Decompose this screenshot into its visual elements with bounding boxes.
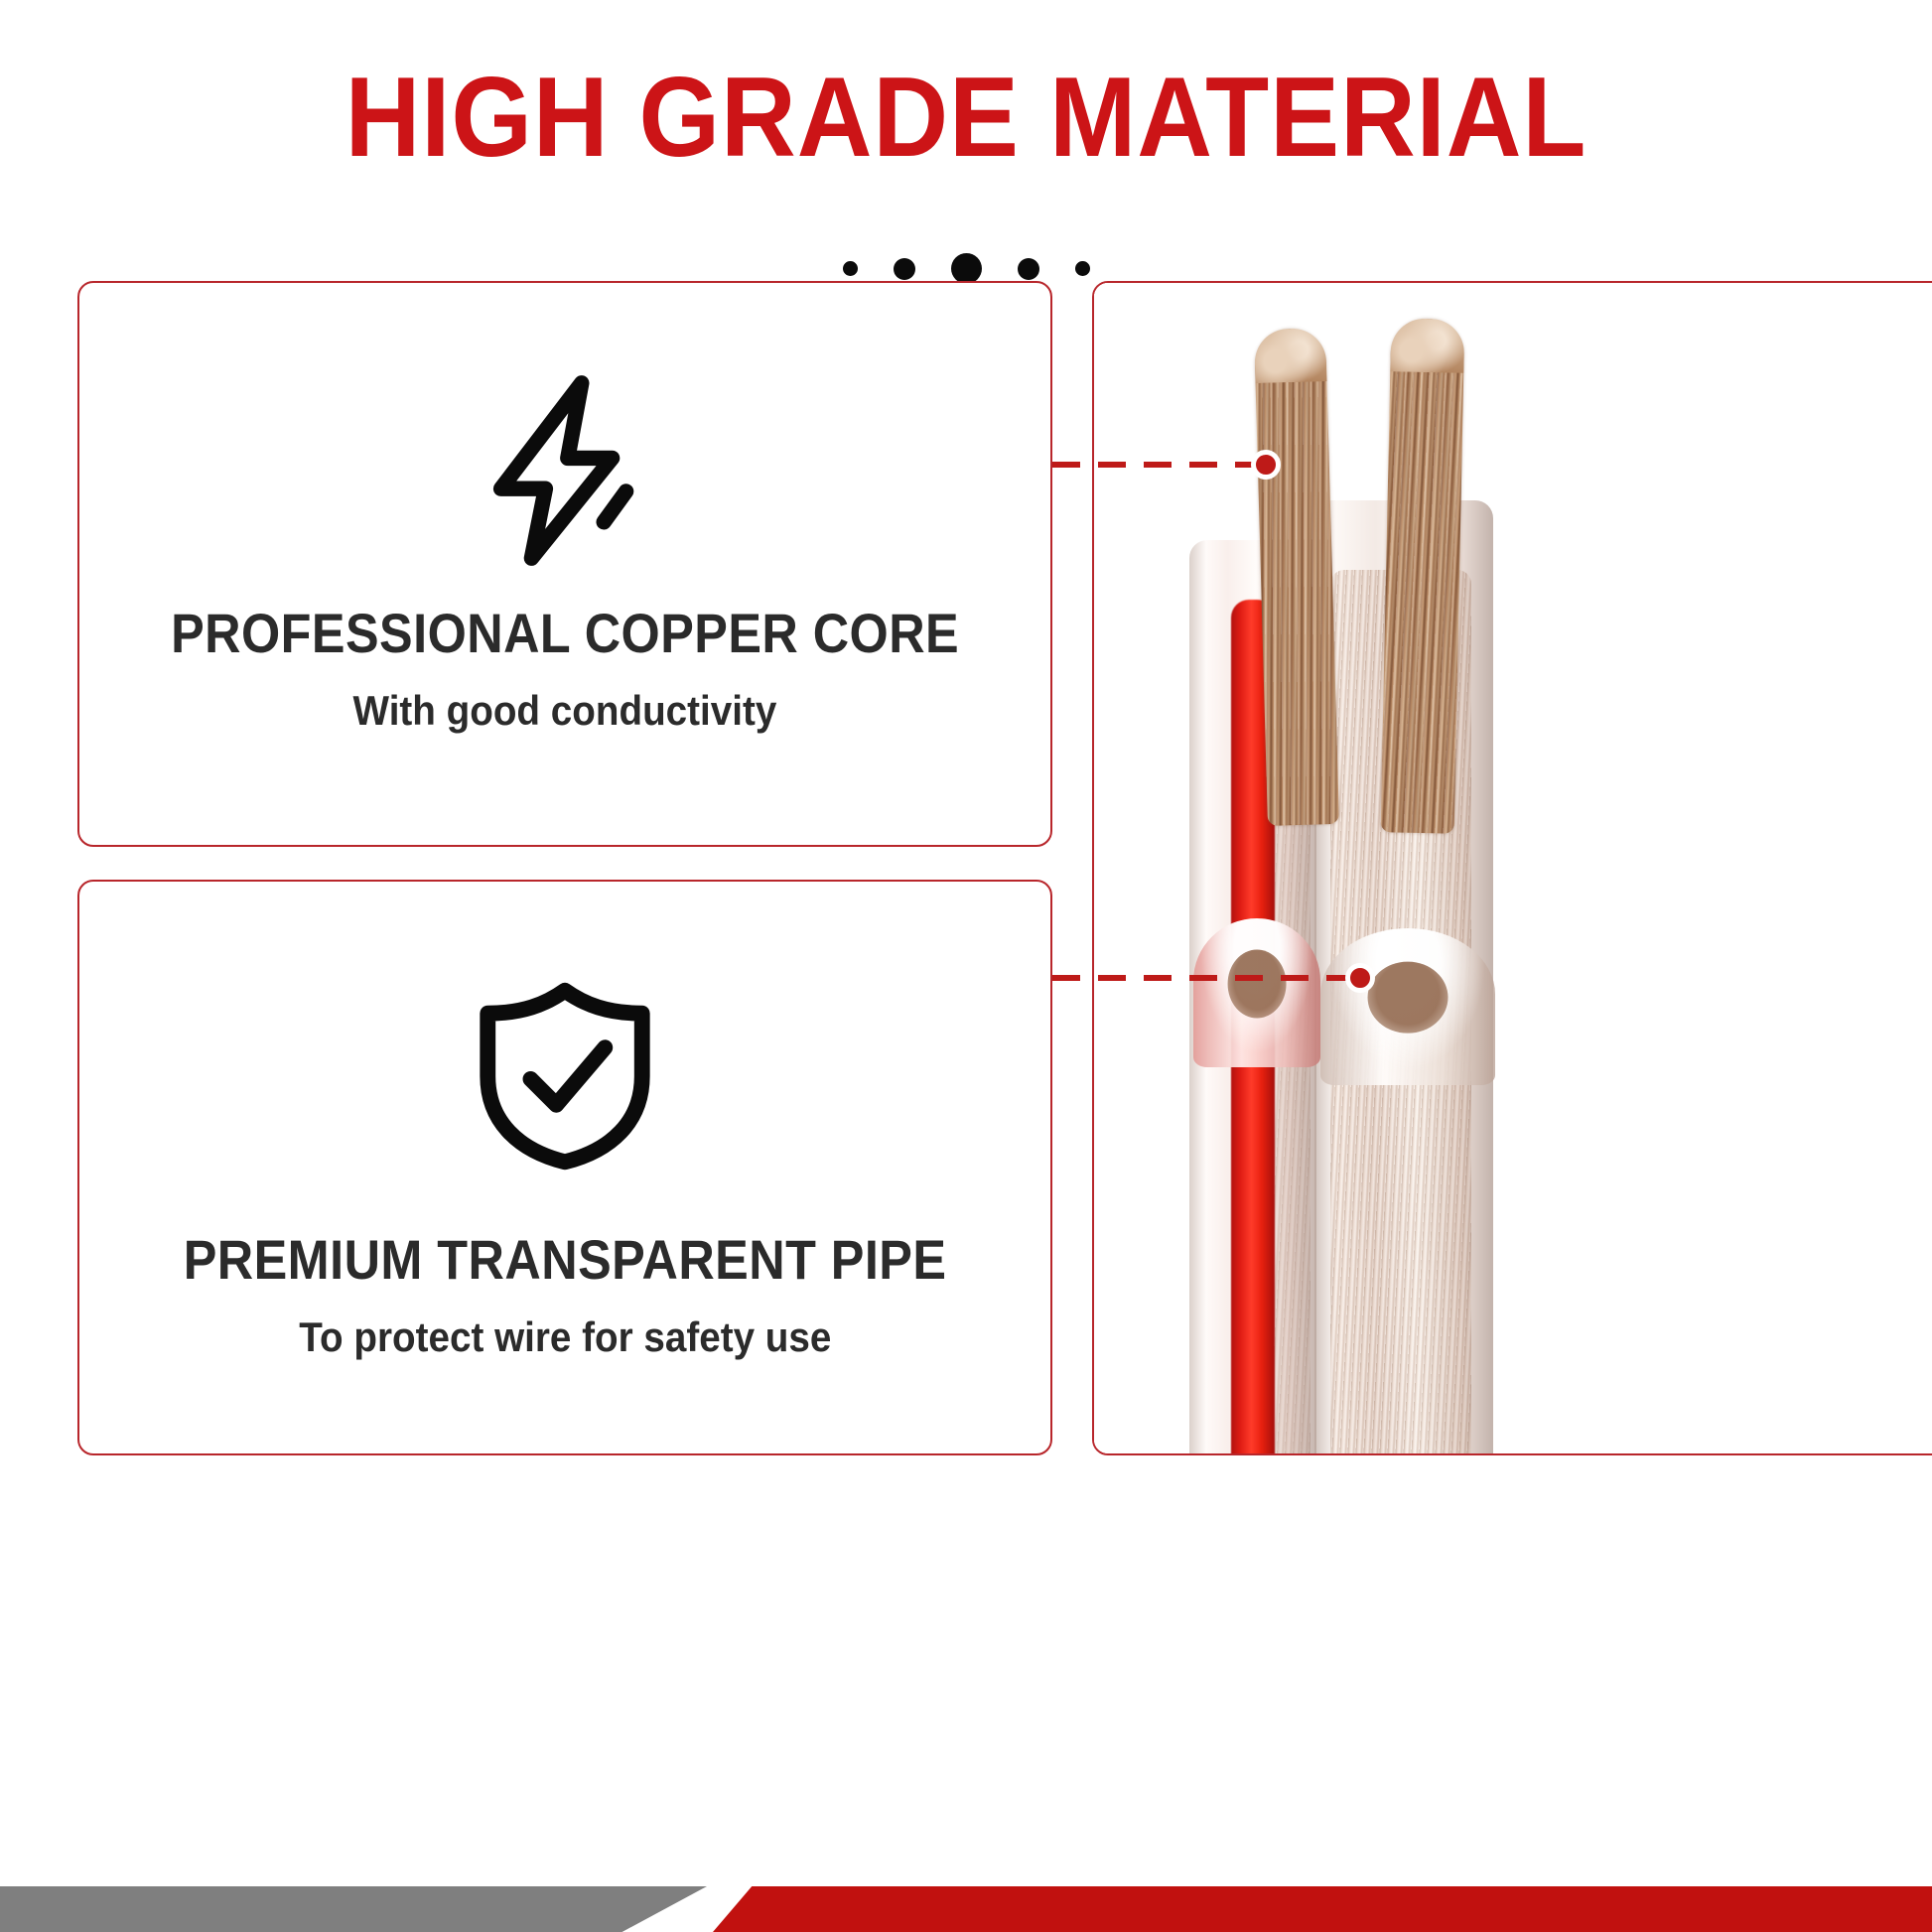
speaker-wire-photo <box>1094 283 1932 1453</box>
callout-connector-pipe <box>1052 975 1360 981</box>
callout-connector-copper <box>1052 462 1266 468</box>
collar-hole <box>1228 950 1287 1019</box>
footer-bar <box>0 1886 1932 1932</box>
divider-dot <box>843 261 858 276</box>
lightning-bolt-icon <box>471 366 659 575</box>
feature-card-subtitle: With good conductivity <box>353 687 777 735</box>
infographic-canvas: HIGH GRADE MATERIAL PROFESSIONAL COPPER … <box>0 0 1932 1932</box>
footer-bar-gray <box>0 1886 707 1932</box>
divider-dot <box>1075 261 1090 276</box>
insulation-collar-right <box>1320 928 1495 1085</box>
divider-dot <box>1018 258 1039 280</box>
page-title: HIGH GRADE MATERIAL <box>77 62 1855 175</box>
feature-card-title: PROFESSIONAL COPPER CORE <box>171 601 959 665</box>
product-photo-panel <box>1092 281 1932 1455</box>
strand-texture <box>1254 328 1339 826</box>
strand-texture <box>1381 318 1465 833</box>
insulation-collar-left <box>1193 918 1320 1067</box>
copper-strand-tip <box>1254 328 1326 383</box>
shield-check-icon <box>471 977 659 1175</box>
divider-dot <box>894 258 915 280</box>
exposed-copper-strands-right <box>1381 318 1465 833</box>
feature-card-transparent-pipe: PREMIUM TRANSPARENT PIPE To protect wire… <box>77 880 1052 1455</box>
feature-card-copper-core: PROFESSIONAL COPPER CORE With good condu… <box>77 281 1052 847</box>
callout-endpoint-dot <box>1251 450 1281 480</box>
collar-hole <box>1368 961 1449 1034</box>
exposed-copper-strands-left <box>1254 328 1339 826</box>
copper-strand-tip <box>1390 318 1464 373</box>
footer-bar-red <box>713 1886 1932 1932</box>
callout-endpoint-dot <box>1345 963 1375 993</box>
dot-divider <box>0 253 1932 284</box>
divider-dot <box>951 253 982 284</box>
feature-card-subtitle: To protect wire for safety use <box>299 1313 831 1361</box>
dashed-line <box>1052 462 1266 468</box>
feature-card-title: PREMIUM TRANSPARENT PIPE <box>184 1227 947 1292</box>
dashed-line <box>1052 975 1360 981</box>
